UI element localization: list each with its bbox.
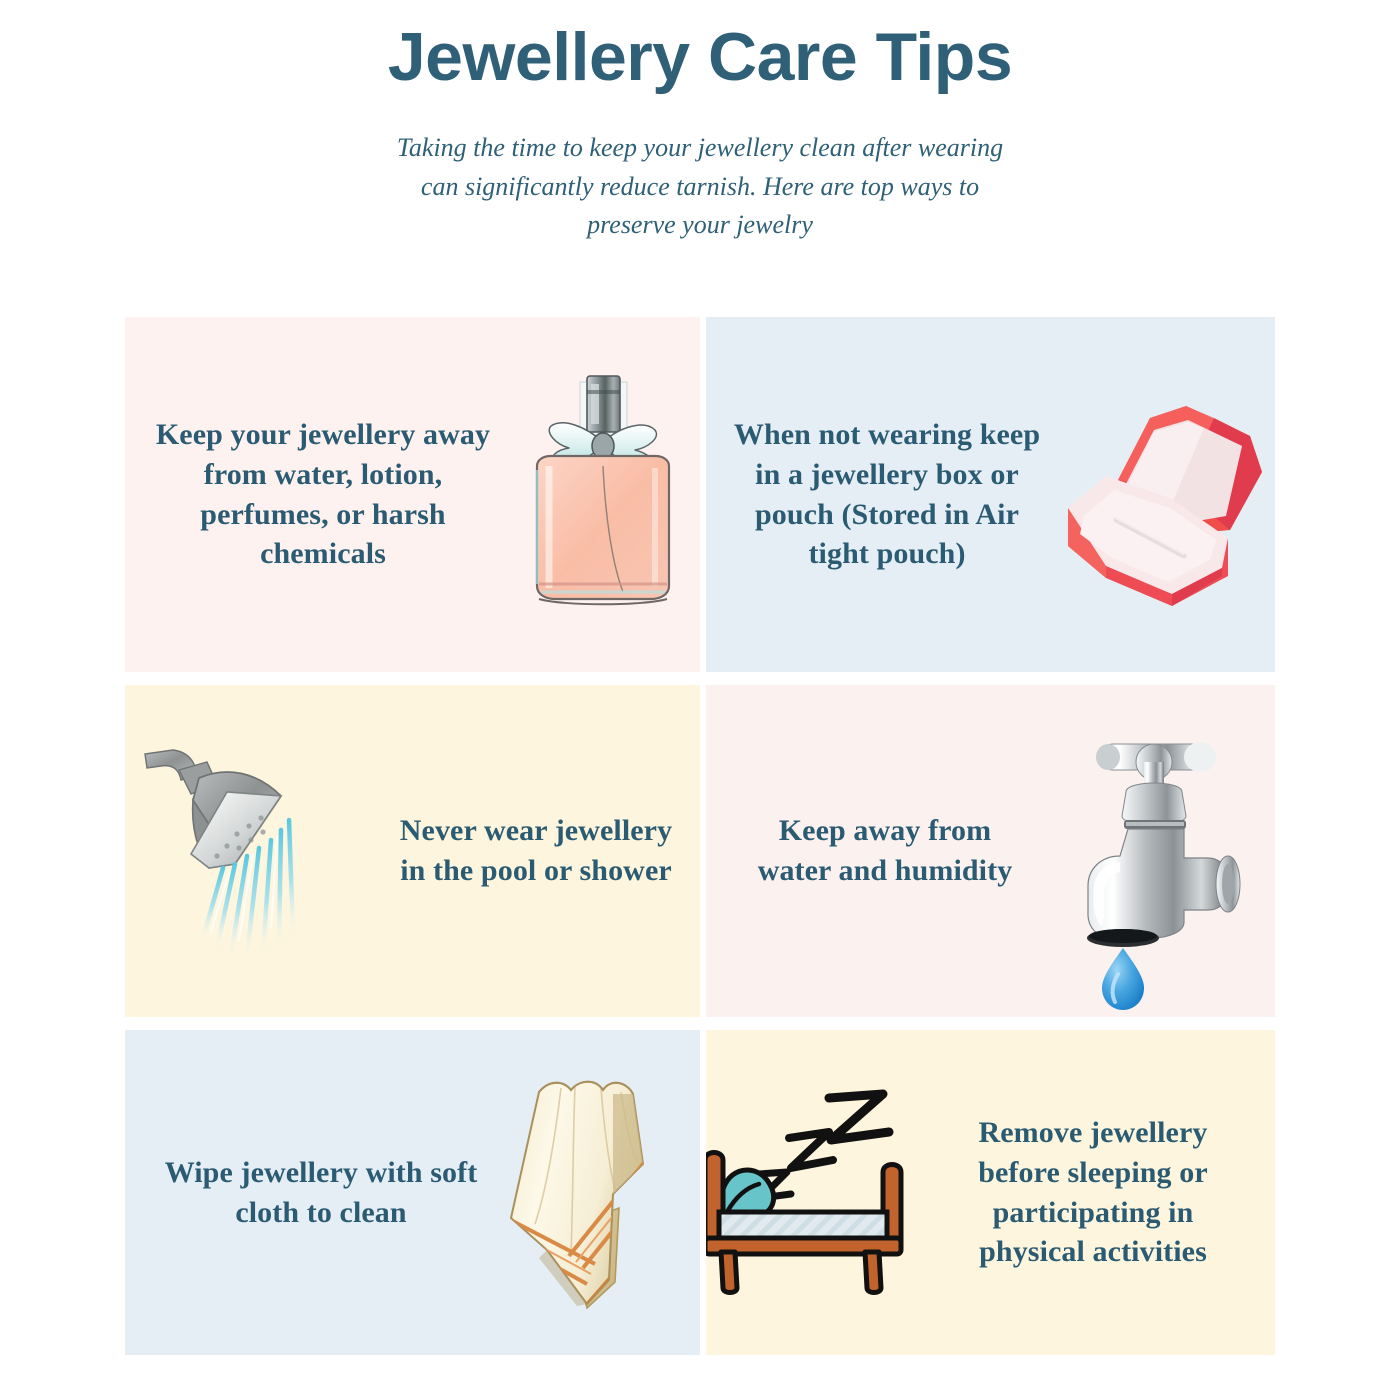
shower-head-icon — [125, 685, 386, 1017]
tip-card-perfume[interactable]: Keep your jewellery away from water, lot… — [125, 317, 700, 672]
ring-box-icon — [1052, 317, 1275, 672]
tip-card-cloth[interactable]: Wipe jewellery with soft cloth to clean — [125, 1030, 700, 1355]
tip-card-text: When not wearing keep in a jewellery box… — [722, 415, 1052, 575]
tip-card-jewellery-box[interactable]: When not wearing keep in a jewellery box… — [706, 317, 1275, 672]
tip-card-text: Never wear jewellery in the pool or show… — [386, 811, 686, 891]
tip-card-text: Keep away from water and humidity — [740, 811, 1030, 891]
faucet-drip-icon — [1030, 685, 1275, 1017]
bed-sleep-icon — [706, 1030, 943, 1355]
tip-card-shower[interactable]: Never wear jewellery in the pool or show… — [125, 685, 700, 1017]
infographic-page: Jewellery Care Tips Taking the time to k… — [0, 0, 1400, 1400]
polishing-cloth-icon — [481, 1030, 700, 1355]
tip-card-text: Wipe jewellery with soft cloth to clean — [161, 1153, 481, 1233]
tips-grid: Keep your jewellery away from water, lot… — [125, 317, 1275, 1355]
tip-card-text: Keep your jewellery away from water, lot… — [143, 415, 503, 575]
tip-card-bed[interactable]: Remove jewellery before sleeping or part… — [706, 1030, 1275, 1355]
tip-card-text: Remove jewellery before sleeping or part… — [943, 1113, 1243, 1273]
tip-card-faucet[interactable]: Keep away from water and humidity — [706, 685, 1275, 1017]
header: Jewellery Care Tips Taking the time to k… — [0, 0, 1400, 245]
page-title: Jewellery Care Tips — [0, 22, 1400, 93]
perfume-bottle-icon — [503, 317, 700, 672]
page-subtitle: Taking the time to keep your jewellery c… — [380, 129, 1020, 244]
